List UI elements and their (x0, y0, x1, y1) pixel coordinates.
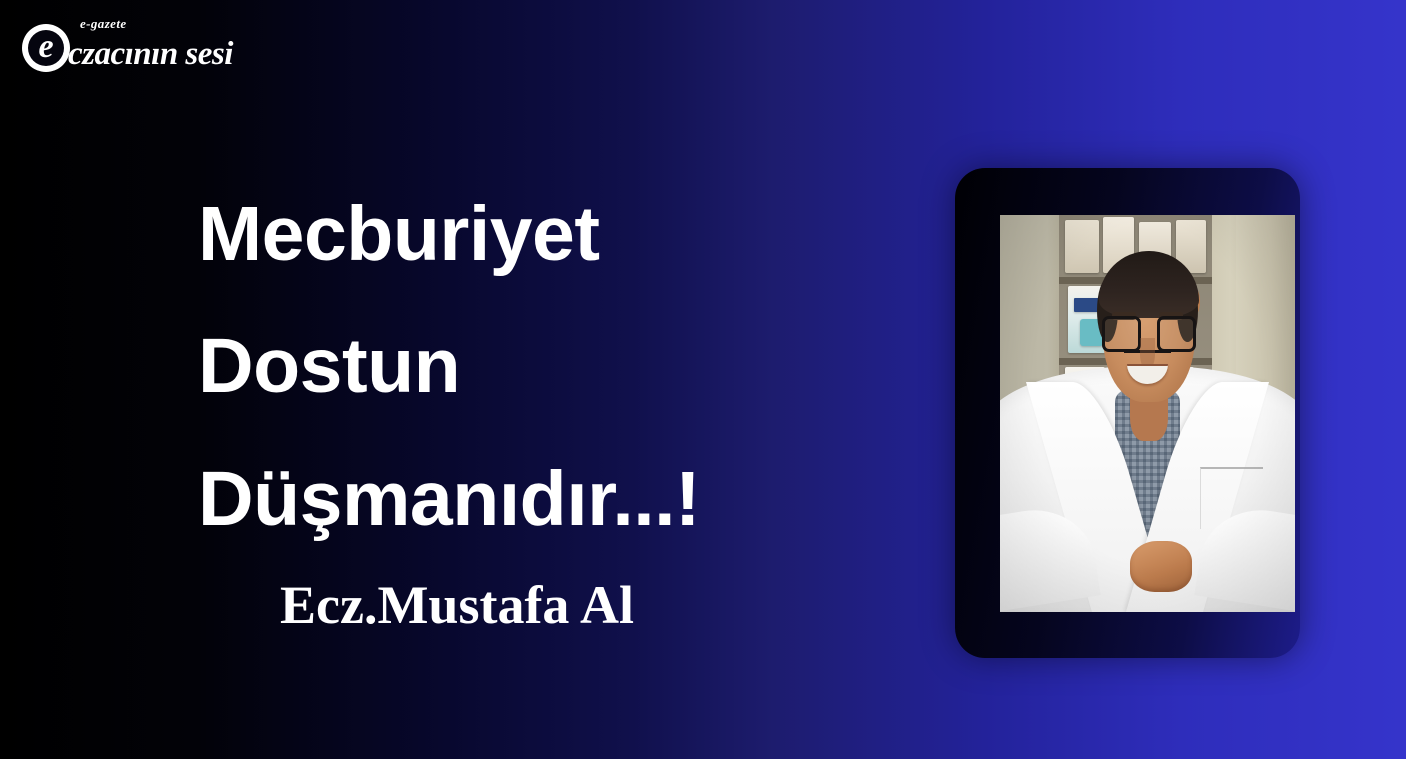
author-byline: Ecz.Mustafa Al (280, 578, 634, 632)
logo-text-group: e-gazete czacının sesi (68, 38, 233, 72)
product-box (1065, 220, 1099, 273)
author-portrait-photo (1000, 215, 1295, 612)
eyeglass-lens-right (1157, 316, 1197, 352)
headline-line-1: Mecburiyet (198, 168, 898, 300)
circled-e-logo-icon: e (22, 24, 70, 72)
portrait-card (955, 168, 1300, 658)
logo-e-glyph: e (22, 24, 70, 72)
logo-kicker: e-gazete (80, 16, 127, 32)
headline-line-2: Dostun (198, 300, 898, 432)
clasped-hands (1130, 541, 1192, 593)
article-cover-banner: e e-gazete czacının sesi Mecburiyet Dost… (0, 0, 1406, 759)
site-logo[interactable]: e e-gazete czacının sesi (22, 10, 233, 72)
headline-block: Mecburiyet Dostun Düşmanıdır...! (198, 168, 898, 565)
headline-line-3: Düşmanıdır...! (198, 433, 898, 565)
logo-wordmark: czacının sesi (68, 38, 233, 71)
eyeglass-lens-left (1102, 316, 1142, 352)
